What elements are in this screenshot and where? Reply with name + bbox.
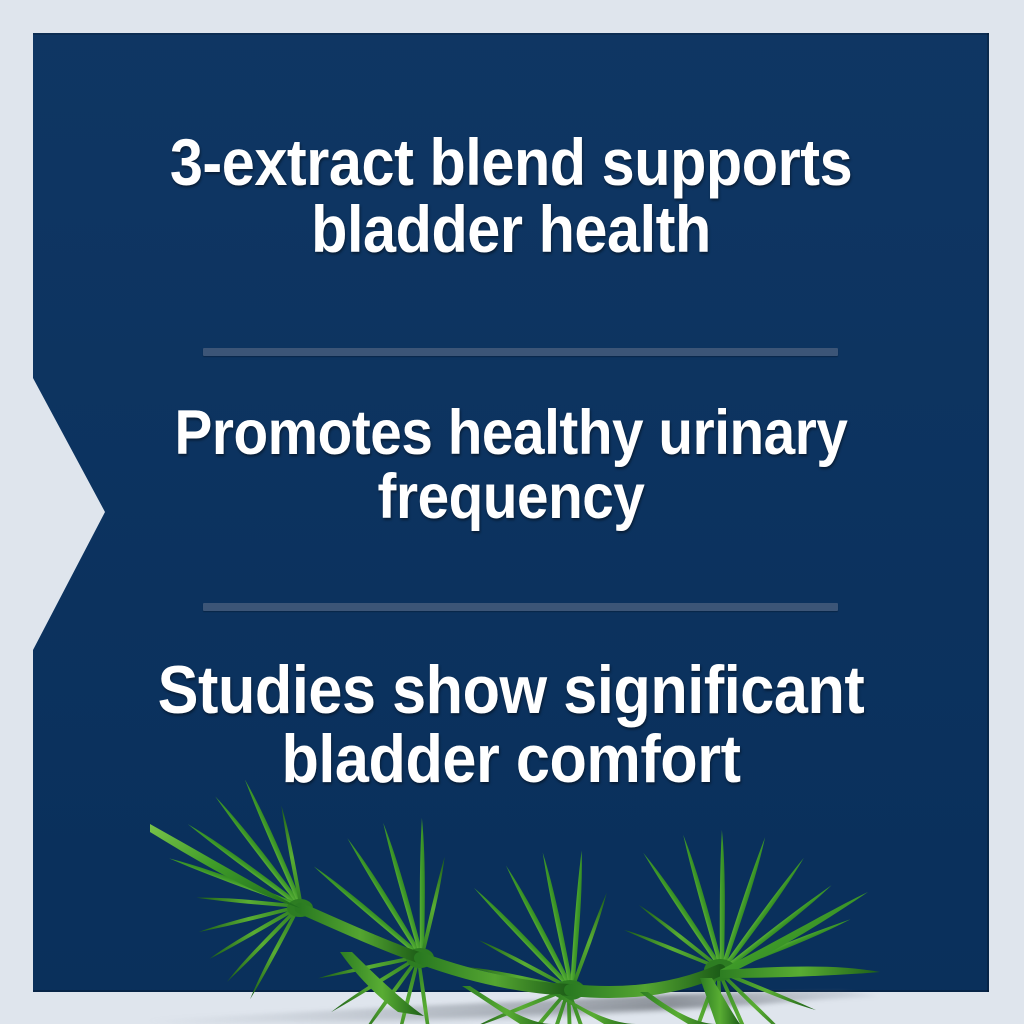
benefits-content: 3-extract blend supports bladder health … (33, 33, 989, 992)
benefit-headline-1: 3-extract blend supports bladder health (81, 129, 941, 264)
promo-card: 3-extract blend supports bladder health … (0, 0, 1024, 1024)
benefit-headline-3: Studies show significant bladder comfort (81, 656, 941, 795)
benefit-divider-2 (203, 603, 838, 611)
benefit-divider-1 (203, 348, 838, 356)
benefit-headline-2: Promotes healthy urinary frequency (81, 401, 941, 530)
